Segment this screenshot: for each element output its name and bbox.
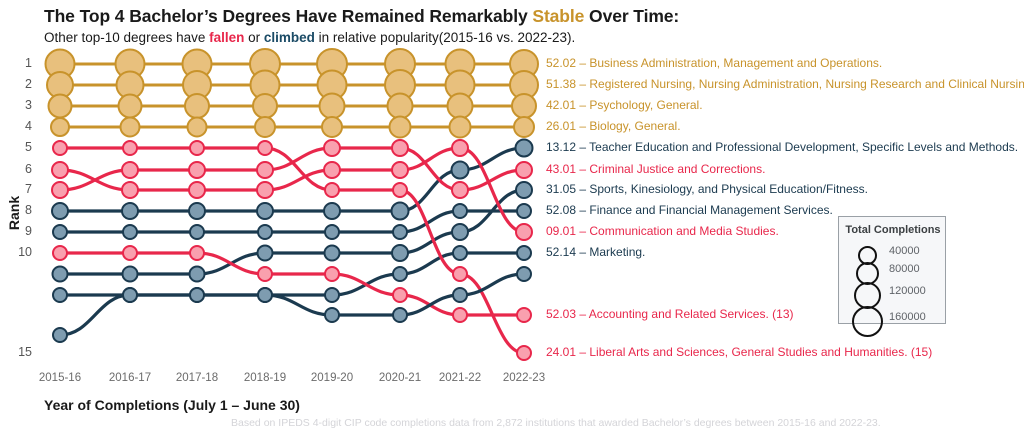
series-node[interactable] — [123, 225, 137, 239]
year-tick-2022-23: 2022-23 — [486, 372, 562, 384]
series-node[interactable] — [516, 162, 532, 178]
series-line — [60, 253, 524, 315]
series-node[interactable] — [53, 288, 67, 302]
series-node[interactable] — [393, 308, 407, 322]
series-node[interactable] — [390, 117, 411, 138]
series-node[interactable] — [324, 140, 340, 156]
series-label-52.14[interactable]: 52.14 – Marketing. — [546, 245, 645, 259]
series-label-43.01[interactable]: 43.01 – Criminal Justice and Corrections… — [546, 162, 765, 176]
series-node[interactable] — [517, 246, 531, 260]
series-node[interactable] — [325, 288, 339, 302]
size-legend-label: 80000 — [889, 263, 920, 275]
series-node[interactable] — [253, 94, 277, 118]
series-node[interactable] — [392, 245, 408, 261]
series-node[interactable] — [324, 203, 340, 219]
size-legend-row: 120000 — [839, 283, 947, 303]
rank-tick-6: 6 — [6, 162, 32, 176]
series-node[interactable] — [325, 225, 339, 239]
series-node[interactable] — [49, 95, 72, 118]
series-node[interactable] — [119, 95, 142, 118]
series-node[interactable] — [121, 118, 140, 137]
size-legend-label: 40000 — [889, 245, 920, 257]
series-node[interactable] — [325, 308, 339, 322]
series-node[interactable] — [393, 183, 407, 197]
series-node[interactable] — [123, 141, 137, 155]
series-label-51.38[interactable]: 51.38 – Registered Nursing, Nursing Admi… — [546, 77, 1024, 91]
series-node[interactable] — [258, 267, 272, 281]
series-node[interactable] — [453, 288, 467, 302]
series-node[interactable] — [516, 224, 532, 240]
series-node[interactable] — [392, 203, 409, 220]
series-node[interactable] — [325, 267, 339, 281]
series-node[interactable] — [52, 182, 68, 198]
series-node[interactable] — [53, 267, 68, 282]
series-node[interactable] — [51, 118, 69, 136]
series-node[interactable] — [185, 94, 209, 118]
series-node[interactable] — [123, 288, 137, 302]
series-node[interactable] — [448, 94, 473, 119]
series-node[interactable] — [453, 246, 467, 260]
source-caption: Based on IPEDS 4-digit CIP code completi… — [231, 417, 881, 429]
series-node[interactable] — [190, 225, 204, 239]
year-tick-2018-19: 2018-19 — [227, 372, 303, 384]
series-node[interactable] — [325, 183, 339, 197]
rank-tick-4: 4 — [6, 119, 32, 133]
series-node[interactable] — [452, 140, 468, 156]
series-node[interactable] — [258, 141, 272, 155]
series-node[interactable] — [53, 246, 67, 260]
size-legend-row: 40000 — [839, 243, 947, 263]
series-node[interactable] — [188, 118, 207, 137]
series-line — [60, 148, 524, 211]
x-axis-title: Year of Completions (July 1 – June 30) — [44, 397, 300, 413]
series-node[interactable] — [392, 162, 408, 178]
series-node[interactable] — [123, 267, 138, 282]
series-node[interactable] — [517, 346, 531, 360]
series-node[interactable] — [123, 246, 137, 260]
series-node[interactable] — [452, 162, 469, 179]
series-node[interactable] — [122, 182, 138, 198]
year-tick-2019-20: 2019-20 — [294, 372, 370, 384]
size-legend-label: 160000 — [889, 311, 926, 323]
series-label-26.01[interactable]: 26.01 – Biology, General. — [546, 119, 681, 133]
series-node[interactable] — [517, 204, 531, 218]
series-node[interactable] — [255, 117, 275, 137]
year-tick-2015-16: 2015-16 — [22, 372, 98, 384]
rank-tick-10: 10 — [6, 245, 32, 259]
series-node[interactable] — [258, 225, 272, 239]
series-label-09.01[interactable]: 09.01 – Communication and Media Studies. — [546, 224, 779, 238]
series-node[interactable] — [190, 141, 204, 155]
series-node[interactable] — [53, 328, 67, 342]
series-node[interactable] — [393, 288, 407, 302]
series-node[interactable] — [53, 141, 67, 155]
rank-tick-1: 1 — [6, 56, 32, 70]
series-node[interactable] — [388, 94, 413, 119]
series-node[interactable] — [393, 225, 407, 239]
series-node[interactable] — [257, 162, 273, 178]
series-node[interactable] — [452, 182, 468, 198]
series-node[interactable] — [450, 117, 471, 138]
series-node[interactable] — [189, 182, 205, 198]
series-label-42.01[interactable]: 42.01 – Psychology, General. — [546, 98, 703, 112]
size-legend-circle-icon — [852, 306, 883, 337]
series-node[interactable] — [322, 117, 342, 137]
series-node[interactable] — [516, 140, 533, 157]
series-node[interactable] — [453, 204, 467, 218]
series-node[interactable] — [52, 162, 68, 178]
size-legend: Total Completions 4000080000120000160000 — [838, 216, 946, 324]
series-node[interactable] — [190, 267, 205, 282]
rank-tick-15: 15 — [6, 345, 32, 359]
y-axis-title: Rank — [6, 183, 22, 243]
series-node[interactable] — [517, 308, 531, 322]
series-node[interactable] — [393, 267, 407, 281]
series-node[interactable] — [514, 117, 534, 137]
rank-tick-2: 2 — [6, 77, 32, 91]
series-label-24.01[interactable]: 24.01 – Liberal Arts and Sciences, Gener… — [546, 345, 932, 359]
series-label-52.08[interactable]: 52.08 – Finance and Financial Management… — [546, 203, 833, 217]
series-node[interactable] — [516, 182, 532, 198]
series-node[interactable] — [258, 246, 273, 261]
series-node[interactable] — [190, 288, 204, 302]
series-label-52.03[interactable]: 52.03 – Accounting and Related Services.… — [546, 307, 794, 321]
size-legend-circle-icon — [854, 282, 881, 309]
series-node[interactable] — [258, 288, 272, 302]
series-node[interactable] — [257, 203, 273, 219]
series-node[interactable] — [392, 140, 408, 156]
series-node[interactable] — [190, 246, 204, 260]
year-tick-2016-17: 2016-17 — [92, 372, 168, 384]
series-node[interactable] — [453, 308, 467, 322]
series-node[interactable] — [257, 182, 273, 198]
series-node[interactable] — [512, 94, 536, 118]
series-node[interactable] — [517, 267, 531, 281]
series-label-52.02[interactable]: 52.02 – Business Administration, Managem… — [546, 56, 882, 70]
series-node[interactable] — [324, 162, 340, 178]
size-legend-label: 120000 — [889, 285, 926, 297]
series-label-31.05[interactable]: 31.05 – Sports, Kinesiology, and Physica… — [546, 182, 868, 196]
series-node[interactable] — [320, 94, 345, 119]
size-legend-row: 80000 — [839, 261, 947, 281]
series-node[interactable] — [453, 267, 467, 281]
series-node[interactable] — [452, 224, 468, 240]
series-node[interactable] — [122, 162, 138, 178]
series-node[interactable] — [122, 203, 138, 219]
size-legend-row: 160000 — [839, 309, 947, 329]
series-node[interactable] — [325, 246, 340, 261]
rank-tick-3: 3 — [6, 98, 32, 112]
series-node[interactable] — [189, 203, 205, 219]
series-node[interactable] — [53, 225, 67, 239]
series-node[interactable] — [189, 162, 205, 178]
series-line — [60, 274, 524, 335]
year-tick-2017-18: 2017-18 — [159, 372, 235, 384]
series-node[interactable] — [52, 203, 68, 219]
series-label-13.12[interactable]: 13.12 – Teacher Education and Profession… — [546, 140, 1018, 154]
rank-tick-5: 5 — [6, 140, 32, 154]
size-legend-title: Total Completions — [839, 224, 947, 236]
